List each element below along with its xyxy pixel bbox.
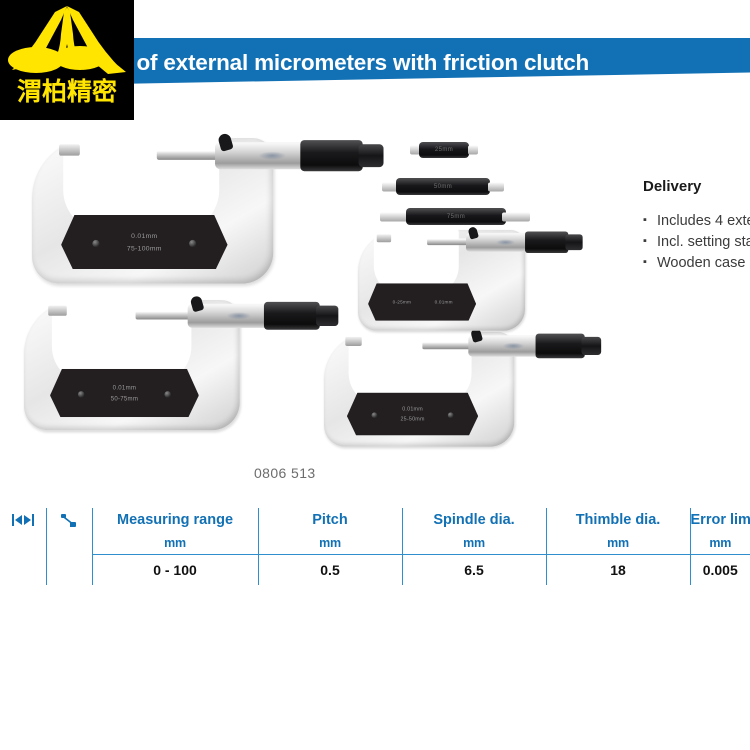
lock-lever-icon xyxy=(467,226,478,239)
anvil-icon xyxy=(59,144,80,155)
company-logo: 渭柏精密 xyxy=(0,0,134,120)
table-header-row: Measuring range Pitch Spindle dia. Thimb… xyxy=(0,508,750,532)
measuring-range-icon xyxy=(12,513,34,527)
micrometer-label-pad: 0-25mm 0.01mm xyxy=(368,283,476,320)
measuring-range-icon xyxy=(0,508,46,532)
logo-mark-icon xyxy=(0,4,134,78)
percent-accuracy-icon xyxy=(46,508,92,532)
cell-spindle-dia: 6.5 xyxy=(402,555,546,586)
screw-icon xyxy=(448,412,454,418)
specification-table: Measuring range Pitch Spindle dia. Thimb… xyxy=(0,508,750,585)
setting-standard-75mm: 75mm xyxy=(380,208,530,225)
micrometer-label-pad: 0.01mm 50-75mm xyxy=(50,369,199,417)
unit-measuring-range: mm xyxy=(92,532,258,555)
percent-accuracy-icon xyxy=(60,513,78,528)
graduation-text: 0.01mm xyxy=(61,233,227,240)
cell-pitch: 0.5 xyxy=(258,555,402,586)
cell-measuring-range: 0 - 100 xyxy=(92,555,258,586)
friction-clutch xyxy=(316,306,338,326)
unit-spacer xyxy=(0,532,46,555)
setting-standard-label: 25mm xyxy=(419,147,469,153)
screw-icon xyxy=(189,240,196,247)
unit-pitch: mm xyxy=(258,532,402,555)
graduation-text: 0.01mm xyxy=(50,385,199,392)
graduation-text: 0.01mm xyxy=(347,407,478,413)
screw-icon xyxy=(164,391,171,398)
cell-icon2 xyxy=(46,555,92,586)
screw-icon xyxy=(78,391,85,398)
range-text: 75-100mm xyxy=(61,245,227,252)
column-header-measuring-range: Measuring range xyxy=(92,508,258,532)
friction-clutch xyxy=(581,337,601,355)
range-text: 50-75mm xyxy=(50,396,199,403)
logo-chinese-text: 渭柏精密 xyxy=(0,76,134,110)
cell-thimble-dia: 18 xyxy=(546,555,690,586)
screw-icon xyxy=(372,412,378,418)
spindle xyxy=(157,150,221,159)
table-unit-row: mm mm mm mm mm xyxy=(0,532,750,555)
table-row: 0 - 100 0.5 6.5 18 0.005 xyxy=(0,555,750,586)
column-header-pitch: Pitch xyxy=(258,508,402,532)
micrometer-label-pad: 0.01mm 75-100mm xyxy=(61,215,227,269)
thimble xyxy=(264,302,320,330)
column-header-error-limit: Error limit xyxy=(690,508,750,532)
setting-standard-label: 50mm xyxy=(396,184,490,190)
delivery-list: Includes 4 external micrometers Incl. se… xyxy=(643,211,750,274)
micrometer-label-pad: 0.01mm 25-50mm xyxy=(347,393,478,436)
setting-standard-label: 75mm xyxy=(406,214,506,220)
anvil-icon xyxy=(48,306,67,316)
cell-icon1 xyxy=(0,555,46,586)
friction-clutch xyxy=(565,234,582,250)
anvil-icon xyxy=(345,337,361,346)
range-text: 25-50mm xyxy=(347,416,478,422)
unit-spindle-dia: mm xyxy=(402,532,546,555)
setting-standard-50mm: 50mm xyxy=(382,178,504,195)
column-header-spindle-dia: Spindle dia. xyxy=(402,508,546,532)
unit-spacer xyxy=(46,532,92,555)
part-number: 0806 513 xyxy=(254,465,316,481)
delivery-item: Includes 4 external micrometers xyxy=(643,211,750,232)
column-header-thimble-dia: Thimble dia. xyxy=(546,508,690,532)
anvil-icon xyxy=(377,234,391,242)
thimble xyxy=(536,334,585,359)
unit-thimble-dia: mm xyxy=(546,532,690,555)
cell-error-limit: 0.005 xyxy=(690,555,750,586)
setting-standard-25mm: 25mm xyxy=(410,142,478,158)
delivery-item: Incl. setting standards xyxy=(643,232,750,253)
page-title: Set of external micrometers with frictio… xyxy=(96,46,750,80)
thimble xyxy=(525,231,568,253)
unit-error-limit: mm xyxy=(690,532,750,555)
spindle xyxy=(136,311,194,319)
spindle xyxy=(422,342,473,349)
product-photo-group: 25mm 50mm 75mm 0.01mm 75-100mm xyxy=(0,110,640,470)
delivery-item: Wooden case xyxy=(643,253,750,274)
screw-icon xyxy=(92,240,99,247)
friction-clutch xyxy=(359,144,384,167)
delivery-title: Delivery xyxy=(643,178,750,195)
thimble xyxy=(300,140,362,171)
delivery-block: Delivery Includes 4 external micrometers… xyxy=(643,178,750,274)
